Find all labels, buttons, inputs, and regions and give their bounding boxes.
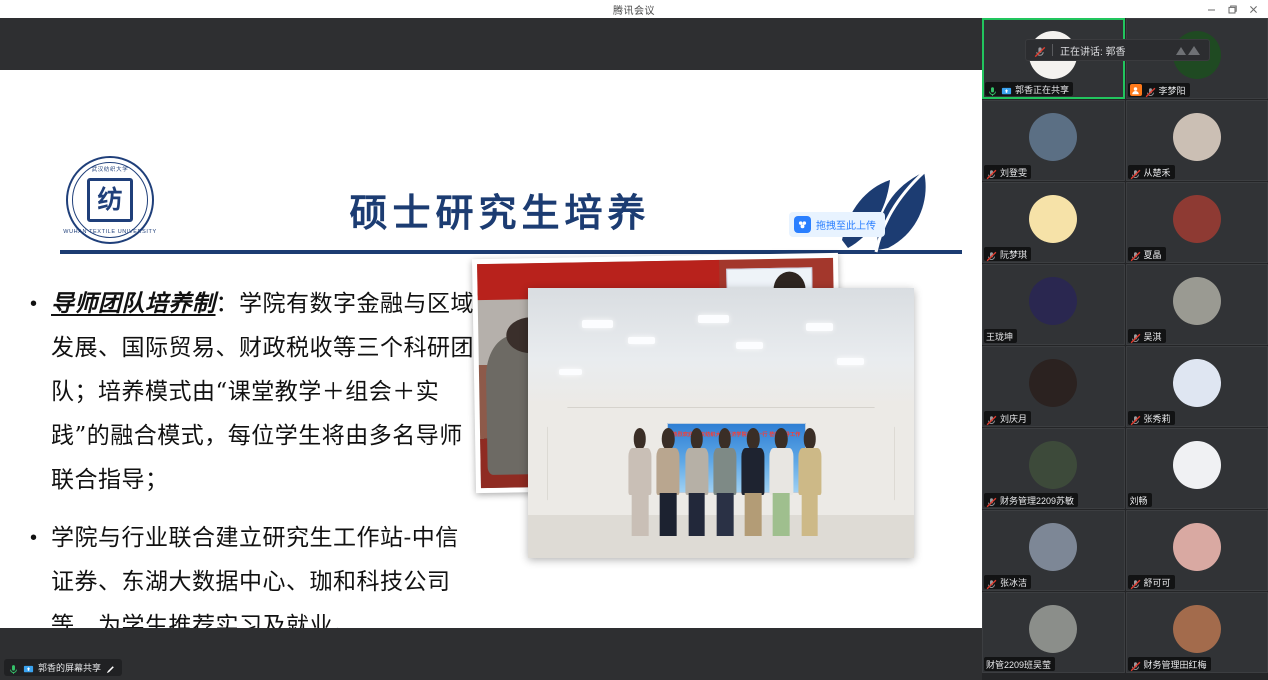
participant-name: 刘登雯	[1000, 166, 1027, 179]
participant-tile[interactable]: 张冰洁	[982, 510, 1125, 591]
avatar	[1173, 277, 1221, 325]
speaking-tooltip-label: 正在讲话: 郭香	[1060, 43, 1126, 58]
participant-tile[interactable]: 舒可可	[1126, 510, 1268, 591]
participant-name-bar: 财务管理2209苏敏	[984, 493, 1078, 507]
participant-name-bar: 财管2209班吴莹	[984, 657, 1055, 671]
participant-name-bar: 从楚禾	[1128, 165, 1175, 179]
participant-name-bar: 刘庆月	[984, 411, 1031, 425]
mic-muted-icon	[1130, 413, 1141, 424]
participant-tile[interactable]: 财管2209班吴莹	[982, 592, 1125, 673]
university-logo-icon: 武汉纺织大学 纺 WUHAN TEXTILE UNIVERSITY	[66, 156, 154, 244]
bullet-marker: •	[30, 516, 37, 560]
avatar	[1029, 277, 1077, 325]
participant-grid: 郭香正在共享李梦阳刘登雯从楚禾阮梦琪夏晶王珑坤吴淇刘庆月张秀莉财务管理2209苏…	[982, 18, 1268, 673]
participant-tile[interactable]: 阮梦琪	[982, 182, 1125, 263]
mic-muted-icon	[1130, 167, 1141, 178]
avatar	[1029, 441, 1077, 489]
mic-muted-icon	[1034, 45, 1045, 56]
bullet-item: • 导师团队培养制：学院有数字金融与区域发展、国际贸易、财政税收等三个科研团队；…	[30, 282, 475, 502]
participant-tile[interactable]: 刘畅	[1126, 428, 1268, 509]
participant-rail[interactable]: 郭香正在共享李梦阳刘登雯从楚禾阮梦琪夏晶王珑坤吴淇刘庆月张秀莉财务管理2209苏…	[982, 18, 1268, 680]
avatar	[1173, 195, 1221, 243]
window-title-bar: 腾讯会议	[0, 0, 1268, 18]
participant-name: 刘畅	[1130, 494, 1148, 507]
participant-name: 王珑坤	[986, 330, 1013, 343]
participant-name: 夏晶	[1144, 248, 1162, 261]
participant-name-bar: 吴淇	[1128, 329, 1166, 343]
baidu-netdisk-icon	[794, 216, 811, 233]
participant-name-bar: 夏晶	[1128, 247, 1166, 261]
avatar	[1029, 359, 1077, 407]
slide-title: 硕士研究生培养	[250, 182, 750, 237]
logo-glyph: 纺	[97, 180, 122, 216]
participant-tile[interactable]: 王珑坤	[982, 264, 1125, 345]
logo-bottom-text: WUHAN TEXTILE UNIVERSITY	[63, 229, 156, 235]
participant-name-bar: 张冰洁	[984, 575, 1031, 589]
slide-bullet-list: • 导师团队培养制：学院有数字金融与区域发展、国际贸易、财政税收等三个科研团队；…	[30, 282, 475, 628]
mic-muted-icon	[1130, 659, 1141, 670]
participant-name-bar: 阮梦琪	[984, 247, 1031, 261]
netdisk-chip-label: 拖拽至此上传	[816, 217, 876, 232]
participant-name-bar: 王珑坤	[984, 329, 1017, 343]
shared-screen-stage[interactable]: 武汉纺织大学 纺 WUHAN TEXTILE UNIVERSITY 硕士研究生培…	[0, 18, 982, 680]
screen-share-icon	[23, 662, 34, 673]
logo-top-text: 武汉纺织大学	[92, 165, 129, 173]
participant-name: 财务管理田红梅	[1144, 658, 1207, 671]
netdisk-drag-upload-chip[interactable]: 拖拽至此上传	[789, 212, 885, 237]
participant-name: 从楚禾	[1144, 166, 1171, 179]
restore-button[interactable]	[1222, 0, 1243, 18]
participant-name-bar: 刘登雯	[984, 165, 1031, 179]
participant-tile[interactable]: 吴淇	[1126, 264, 1268, 345]
photo-front-group: 热烈欢迎 武汉纺织大学经济学院领导一行 莅临指导工作	[528, 288, 914, 558]
participant-tile[interactable]: 财务管理田红梅	[1126, 592, 1268, 673]
participant-tile[interactable]: 刘庆月	[982, 346, 1125, 427]
participant-name-bar: 刘畅	[1128, 493, 1152, 507]
participant-name-bar: 李梦阳	[1128, 83, 1190, 97]
mic-muted-icon	[986, 495, 997, 506]
minimize-button[interactable]	[1201, 0, 1222, 18]
mic-muted-icon	[986, 413, 997, 424]
leaf-ornament-icon	[820, 168, 940, 254]
participant-name-bar: 财务管理田红梅	[1128, 657, 1211, 671]
avatar	[1173, 605, 1221, 653]
participant-name: 张秀莉	[1144, 412, 1171, 425]
mic-icon	[987, 84, 998, 95]
participant-name: 财务管理2209苏敏	[1000, 494, 1074, 507]
bullet-body: ：学院有数字金融与区域发展、国际贸易、财政税收等三个科研团队；培养模式由“课堂教…	[51, 291, 474, 493]
participant-name: 吴淇	[1144, 330, 1162, 343]
participant-name: 郭香正在共享	[1015, 83, 1069, 96]
mic-muted-icon	[1130, 331, 1141, 342]
bullet-text: 学院与行业联合建立研究生工作站-中信证券、东湖大数据中心、珈和科技公司等，为学生…	[51, 516, 475, 628]
participant-tile[interactable]: 张秀莉	[1126, 346, 1268, 427]
mic-muted-icon	[986, 249, 997, 260]
screen-share-status-chip[interactable]: 郭香的屏幕共享	[4, 659, 122, 676]
avatar	[1173, 113, 1221, 161]
avatar	[1029, 523, 1077, 571]
participant-tile[interactable]: 刘登雯	[982, 100, 1125, 181]
host-badge-icon	[1130, 84, 1142, 96]
mic-muted-icon	[1130, 577, 1141, 588]
participant-tile[interactable]: 夏晶	[1126, 182, 1268, 263]
window-title: 腾讯会议	[613, 2, 655, 17]
participant-name-bar: 舒可可	[1128, 575, 1175, 589]
pencil-icon[interactable]	[105, 662, 116, 673]
participant-name-bar: 张秀莉	[1128, 411, 1175, 425]
participant-name: 舒可可	[1144, 576, 1171, 589]
avatar	[1029, 113, 1077, 161]
bullet-text: 导师团队培养制：学院有数字金融与区域发展、国际贸易、财政税收等三个科研团队；培养…	[51, 282, 475, 502]
close-button[interactable]	[1243, 0, 1264, 18]
participant-name: 李梦阳	[1159, 84, 1186, 97]
bullet-item: • 学院与行业联合建立研究生工作站-中信证券、东湖大数据中心、珈和科技公司等，为…	[30, 516, 475, 628]
window-controls	[1201, 0, 1264, 18]
participant-name: 阮梦琪	[1000, 248, 1027, 261]
mic-icon	[8, 662, 19, 673]
avatar	[1029, 195, 1077, 243]
bullet-emphasis: 导师团队培养制	[51, 290, 216, 317]
avatar	[1173, 359, 1221, 407]
participant-tile[interactable]: 财务管理2209苏敏	[982, 428, 1125, 509]
screen-share-icon	[1001, 84, 1012, 95]
speaking-tooltip: 正在讲话: 郭香	[1025, 39, 1210, 61]
presentation-slide: 武汉纺织大学 纺 WUHAN TEXTILE UNIVERSITY 硕士研究生培…	[0, 70, 982, 628]
participant-name-bar: 郭香正在共享	[985, 82, 1073, 96]
participant-tile[interactable]: 从楚禾	[1126, 100, 1268, 181]
participant-name: 财管2209班吴莹	[986, 658, 1051, 671]
screen-share-label: 郭香的屏幕共享	[38, 661, 101, 674]
meeting-window-body: 武汉纺织大学 纺 WUHAN TEXTILE UNIVERSITY 硕士研究生培…	[0, 18, 1268, 680]
avatar	[1173, 523, 1221, 571]
participant-name: 张冰洁	[1000, 576, 1027, 589]
bullet-marker: •	[30, 282, 37, 326]
mic-muted-icon	[1145, 85, 1156, 96]
avatar	[1173, 441, 1221, 489]
mic-muted-icon	[1130, 249, 1141, 260]
participant-name: 刘庆月	[1000, 412, 1027, 425]
mic-muted-icon	[986, 577, 997, 588]
mountain-icon	[1175, 44, 1201, 56]
mic-muted-icon	[986, 167, 997, 178]
avatar	[1029, 605, 1077, 653]
